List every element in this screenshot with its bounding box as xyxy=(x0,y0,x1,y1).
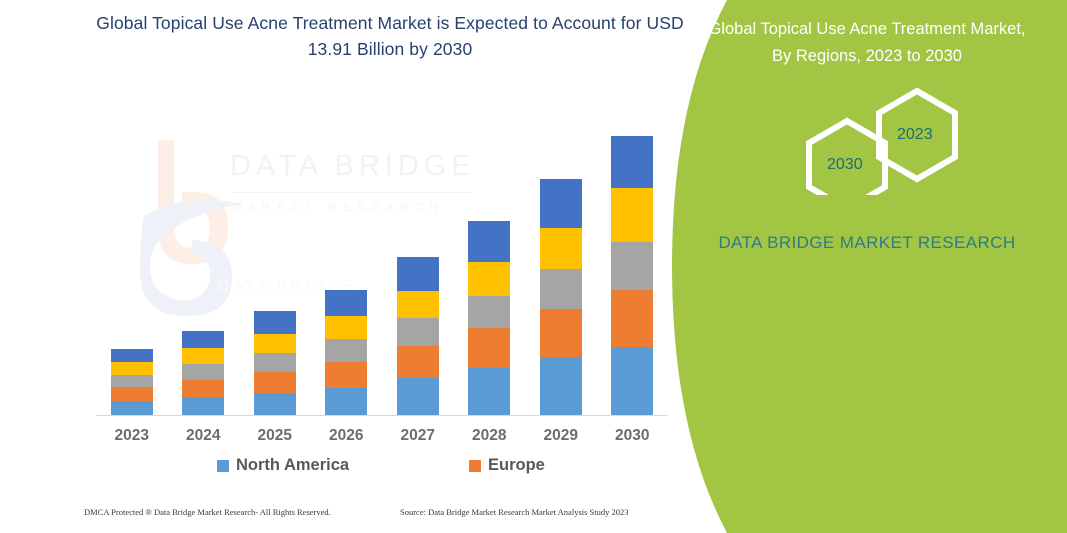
bar-segment xyxy=(397,318,439,345)
bar-segment xyxy=(611,242,653,289)
x-axis-label: 2025 xyxy=(239,427,311,445)
market-infographic: Global Topical Use Acne Treatment Market… xyxy=(0,0,1067,533)
bar-segment xyxy=(540,179,582,228)
bar-segment xyxy=(254,353,296,372)
bar-segment xyxy=(611,188,653,242)
bar-segment xyxy=(468,221,510,262)
x-axis-labels: 20232024202520262027202820292030 xyxy=(96,427,668,451)
brand-name: DATA BRIDGE MARKET RESEARCH xyxy=(697,228,1037,258)
bar-column xyxy=(182,330,224,416)
chart-legend: North AmericaEurope xyxy=(96,456,668,480)
bar-segment xyxy=(468,368,510,416)
plot-area xyxy=(96,120,668,416)
bar-segment xyxy=(468,296,510,329)
bar-segment xyxy=(468,328,510,367)
x-axis-label: 2030 xyxy=(596,427,668,445)
footer-copyright: DMCA Protected ® Data Bridge Market Rese… xyxy=(84,507,331,517)
legend-swatch xyxy=(217,460,229,472)
bar-segment xyxy=(468,262,510,295)
bar-segment xyxy=(611,136,653,188)
bar-segment xyxy=(111,349,153,362)
bar-segment xyxy=(325,339,367,362)
bar-column xyxy=(611,136,653,416)
x-axis-label: 2026 xyxy=(310,427,382,445)
bar-segment xyxy=(611,290,653,347)
x-axis-label: 2024 xyxy=(167,427,239,445)
brand-panel-title: Global Topical Use Acne Treatment Market… xyxy=(697,16,1037,70)
green-background-shape xyxy=(667,0,1067,533)
chart-panel: Global Topical Use Acne Treatment Market… xyxy=(0,0,760,533)
bar-column xyxy=(468,221,510,416)
bar-segment xyxy=(397,257,439,291)
hexagon-shapes-icon xyxy=(737,85,1017,195)
bar-segment xyxy=(540,269,582,309)
bar-segment xyxy=(182,331,224,348)
bar-column xyxy=(540,179,582,416)
bar-column xyxy=(397,257,439,416)
x-axis-label: 2027 xyxy=(382,427,454,445)
bar-segment xyxy=(325,388,367,416)
bar-segment xyxy=(540,309,582,357)
bar-segment xyxy=(111,401,153,416)
bar-segment xyxy=(397,378,439,416)
bar-segment xyxy=(254,311,296,334)
x-axis-label: 2028 xyxy=(453,427,525,445)
x-axis-line xyxy=(96,415,668,416)
legend-label: Europe xyxy=(488,456,545,475)
legend-item[interactable]: Europe xyxy=(469,456,545,475)
bar-column xyxy=(254,311,296,416)
hexagon-label-2030: 2030 xyxy=(827,156,863,174)
brand-panel: Global Topical Use Acne Treatment Market… xyxy=(667,0,1067,533)
bar-segment xyxy=(325,316,367,339)
bar-segment xyxy=(111,387,153,401)
legend-item[interactable]: North America xyxy=(217,456,349,475)
bar-segment xyxy=(540,228,582,269)
bar-segment xyxy=(111,362,153,375)
chart-title: Global Topical Use Acne Treatment Market… xyxy=(90,10,690,62)
bar-segment xyxy=(182,364,224,380)
bar-segment xyxy=(111,375,153,388)
bar-segment xyxy=(254,334,296,353)
bar-segment xyxy=(325,290,367,317)
x-axis-label: 2029 xyxy=(525,427,597,445)
bar-segment xyxy=(397,346,439,378)
bar-segment xyxy=(254,372,296,393)
bar-segment xyxy=(182,397,224,416)
hexagon-group: 2023 2030 xyxy=(737,85,1017,195)
bar-segment xyxy=(182,380,224,397)
x-axis-label: 2023 xyxy=(96,427,168,445)
legend-label: North America xyxy=(236,456,349,475)
bar-column xyxy=(325,290,367,416)
bar-segment xyxy=(540,357,582,416)
footer-source: Source: Data Bridge Market Research Mark… xyxy=(400,507,629,517)
bar-segment xyxy=(325,362,367,388)
bar-segment xyxy=(611,347,653,416)
bar-segment xyxy=(397,291,439,318)
bar-column xyxy=(111,349,153,416)
bar-segment xyxy=(254,393,296,416)
hexagon-label-2023: 2023 xyxy=(897,126,933,144)
legend-swatch xyxy=(469,460,481,472)
bar-segment xyxy=(182,348,224,364)
